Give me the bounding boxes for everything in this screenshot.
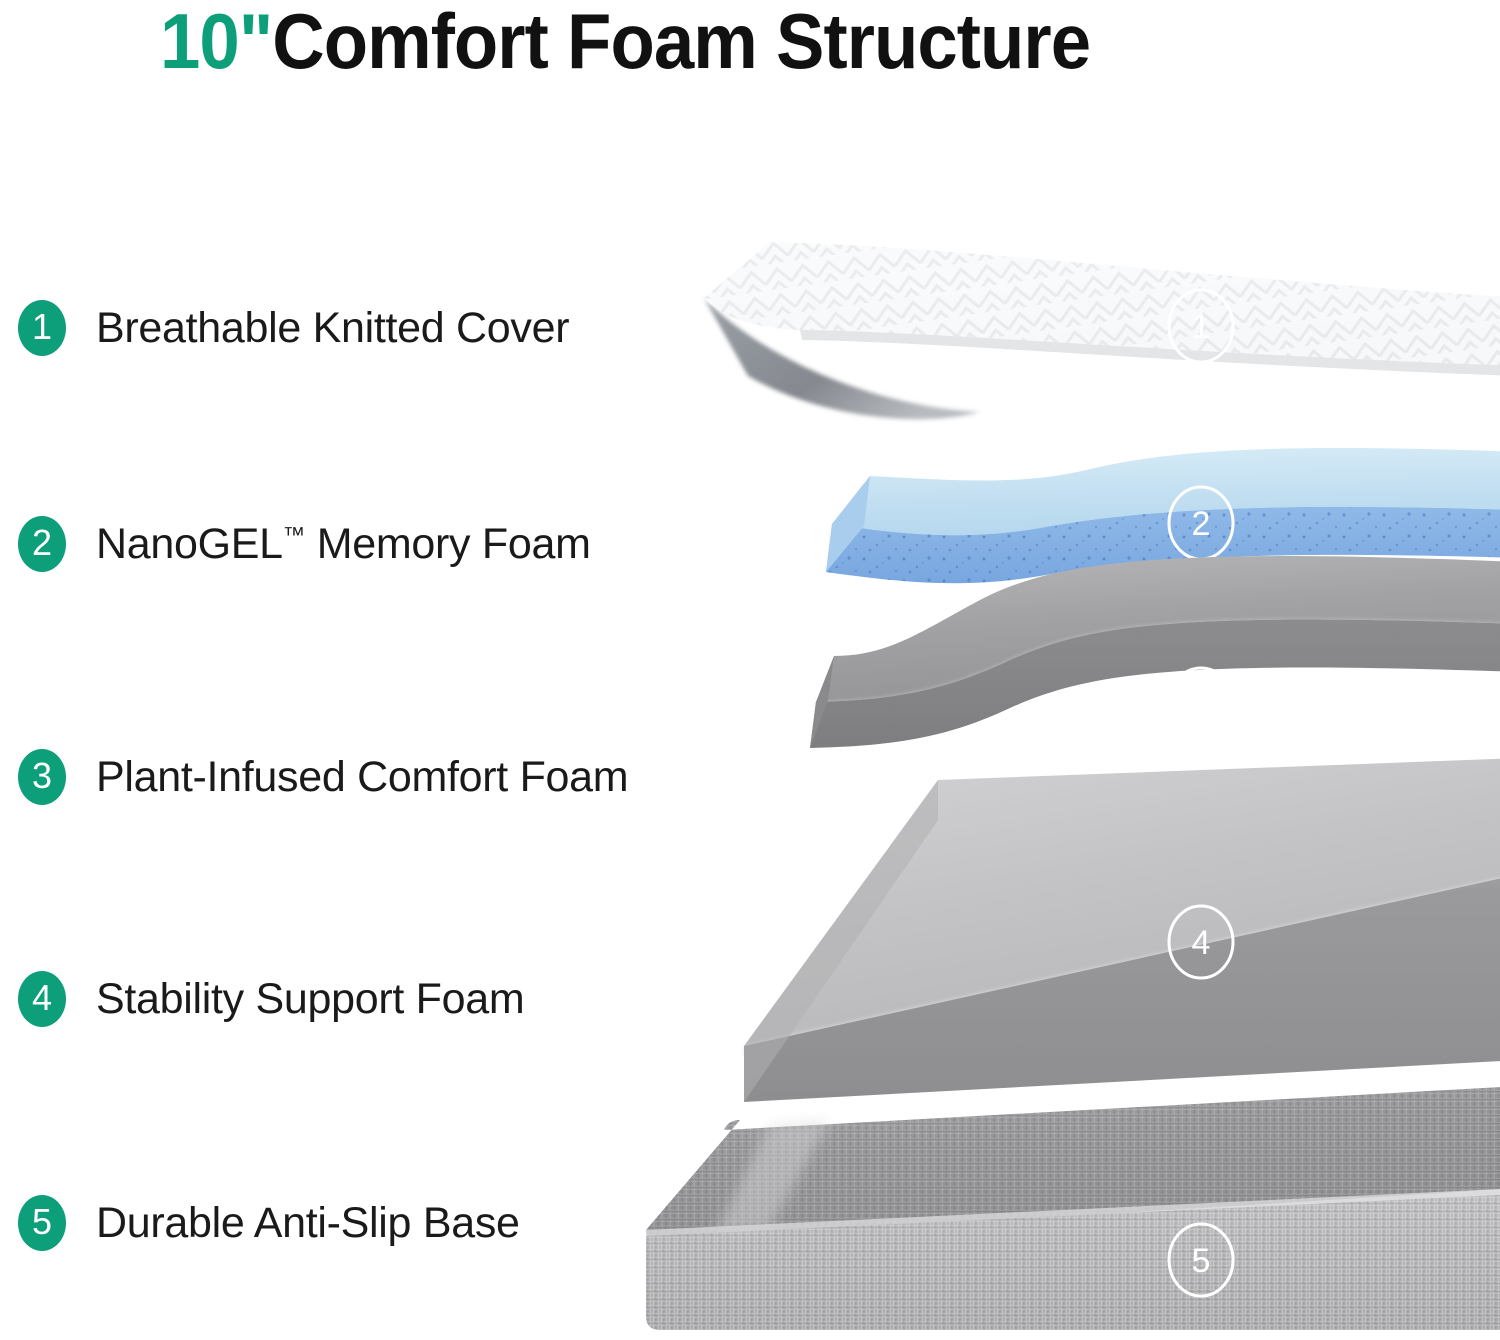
layer-5-durable-anti-slip-base: 5 — [646, 1086, 1500, 1330]
badge-number-5: 5 — [1192, 1242, 1211, 1280]
legend-item-2: 2 NanoGEL™ Memory Foam — [18, 511, 591, 577]
legend-badge-3: 3 — [18, 749, 66, 805]
layer-4-stability-support-foam: 4 — [744, 758, 1500, 1102]
layer-badge-3: 3 — [1169, 668, 1233, 740]
layer-1-knitted-cover: 1 — [704, 242, 1500, 419]
layer-3-plant-infused-comfort-foam: 3 — [810, 556, 1500, 748]
legend-label-2: NanoGEL™ Memory Foam — [96, 520, 591, 569]
infographic-page: 10"Comfort Foam Structure 1 Breathable K… — [0, 0, 1500, 1335]
legend-badge-4: 4 — [18, 971, 66, 1027]
legend-item-4: 4 Stability Support Foam — [18, 966, 524, 1032]
legend-item-1: 1 Breathable Knitted Cover — [18, 295, 569, 361]
legend-badge-2: 2 — [18, 516, 66, 572]
trademark-symbol: ™ — [283, 522, 305, 547]
badge-number-2: 2 — [1192, 505, 1211, 543]
legend-badge-1: 1 — [18, 300, 66, 356]
legend-label-3: Plant-Infused Comfort Foam — [96, 753, 628, 802]
badge-number-3: 3 — [1192, 686, 1211, 724]
mattress-layers-illustration: 1 2 — [620, 180, 1500, 1340]
legend-label-1: Breathable Knitted Cover — [96, 304, 569, 353]
legend-label-4: Stability Support Foam — [96, 975, 524, 1024]
legend-label-2-tail: Memory Foam — [305, 520, 591, 568]
legend-badge-5: 5 — [18, 1195, 66, 1251]
badge-number-4: 4 — [1192, 924, 1211, 962]
badge-number-1: 1 — [1192, 308, 1211, 346]
legend-label-5: Durable Anti-Slip Base — [96, 1199, 520, 1248]
legend-label-2-main: NanoGEL — [96, 520, 283, 568]
legend-item-3: 3 Plant-Infused Comfort Foam — [18, 744, 628, 810]
layer-legend-list: 1 Breathable Knitted Cover 2 NanoGEL™ Me… — [0, 0, 700, 1335]
legend-item-5: 5 Durable Anti-Slip Base — [18, 1190, 520, 1256]
